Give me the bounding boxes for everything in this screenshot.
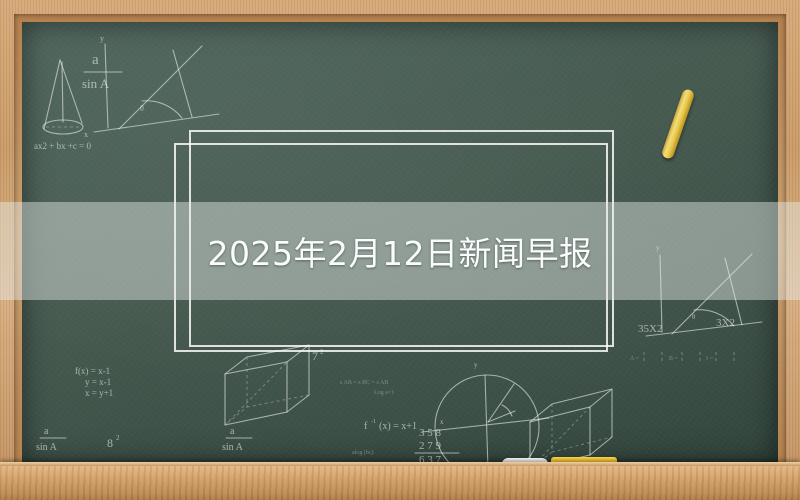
svg-text:y: y — [474, 361, 478, 369]
svg-text:I =: I = — [706, 356, 713, 362]
svg-text:-1: -1 — [371, 419, 376, 425]
svg-text:sin A: sin A — [222, 442, 244, 453]
svg-text:y = x-1: y = x-1 — [85, 377, 111, 387]
svg-text:B =: B = — [669, 356, 679, 362]
svg-text:x: x — [84, 130, 88, 139]
svg-text:f: f — [364, 421, 368, 432]
eight-exponent: 2 — [116, 434, 120, 442]
function-equations: f(x) = x-1 y = x-1 x = y+1 — [75, 366, 113, 398]
log-label: alog (bc) — [352, 449, 374, 456]
chalk-ledge — [0, 462, 800, 500]
cone-diagram — [43, 60, 83, 134]
svg-text:sin A: sin A — [82, 76, 110, 91]
svg-text:x = y+1: x = y+1 — [85, 388, 113, 398]
ledge-highlight — [0, 462, 800, 466]
cube-diagram-center — [225, 345, 309, 425]
svg-text:3 5 8: 3 5 8 — [419, 427, 442, 439]
sine-rule-fraction-3: a sin A — [222, 426, 252, 453]
svg-text:(x) = x+1: (x) = x+1 — [379, 421, 417, 432]
unit-circle-diagram: x y — [422, 361, 549, 463]
eight-squared: 8 — [107, 436, 113, 450]
svg-text:y: y — [100, 34, 104, 43]
svg-text:f(x) = x-1: f(x) = x-1 — [75, 366, 110, 376]
sine-rule-fraction-2: a sin A — [36, 426, 66, 453]
svg-text:A =: A = — [630, 356, 640, 362]
sine-rule-fraction: a sin A — [82, 52, 122, 91]
svg-text:a: a — [44, 426, 49, 437]
addition-sum: 3 5 8 2 7 9 6 3 7 — [415, 427, 459, 463]
matrix-group: A = B = I = — [630, 352, 734, 364]
svg-text:x: x — [440, 418, 444, 426]
svg-text:θ: θ — [692, 313, 696, 321]
segment-equality: s AB = s BC = s AB — [340, 380, 388, 386]
quadratic-equation: ax2 + bx +c = 0 — [34, 141, 91, 151]
svg-text:sin A: sin A — [36, 442, 58, 453]
log-label-2: Log a=1 — [374, 390, 394, 396]
svg-text:θ: θ — [140, 104, 144, 113]
matrix-dim-1: 35X2 — [638, 323, 662, 335]
matrix-dim-2: 3X2 — [716, 317, 735, 329]
svg-text:a: a — [92, 52, 99, 68]
svg-text:a: a — [230, 426, 235, 437]
svg-text:2 7 9: 2 7 9 — [419, 440, 442, 452]
inverse-function: f -1 (x) = x+1 — [364, 419, 417, 432]
angle-axes-diagram: y x θ — [84, 34, 219, 139]
blackboard-poster: a sin A ax2 + bx +c = 0 y x θ f(x) = x-1 — [0, 0, 800, 500]
page-title: 2025年2月12日新闻早报 — [0, 202, 800, 300]
cube-diagram-right — [530, 389, 612, 463]
